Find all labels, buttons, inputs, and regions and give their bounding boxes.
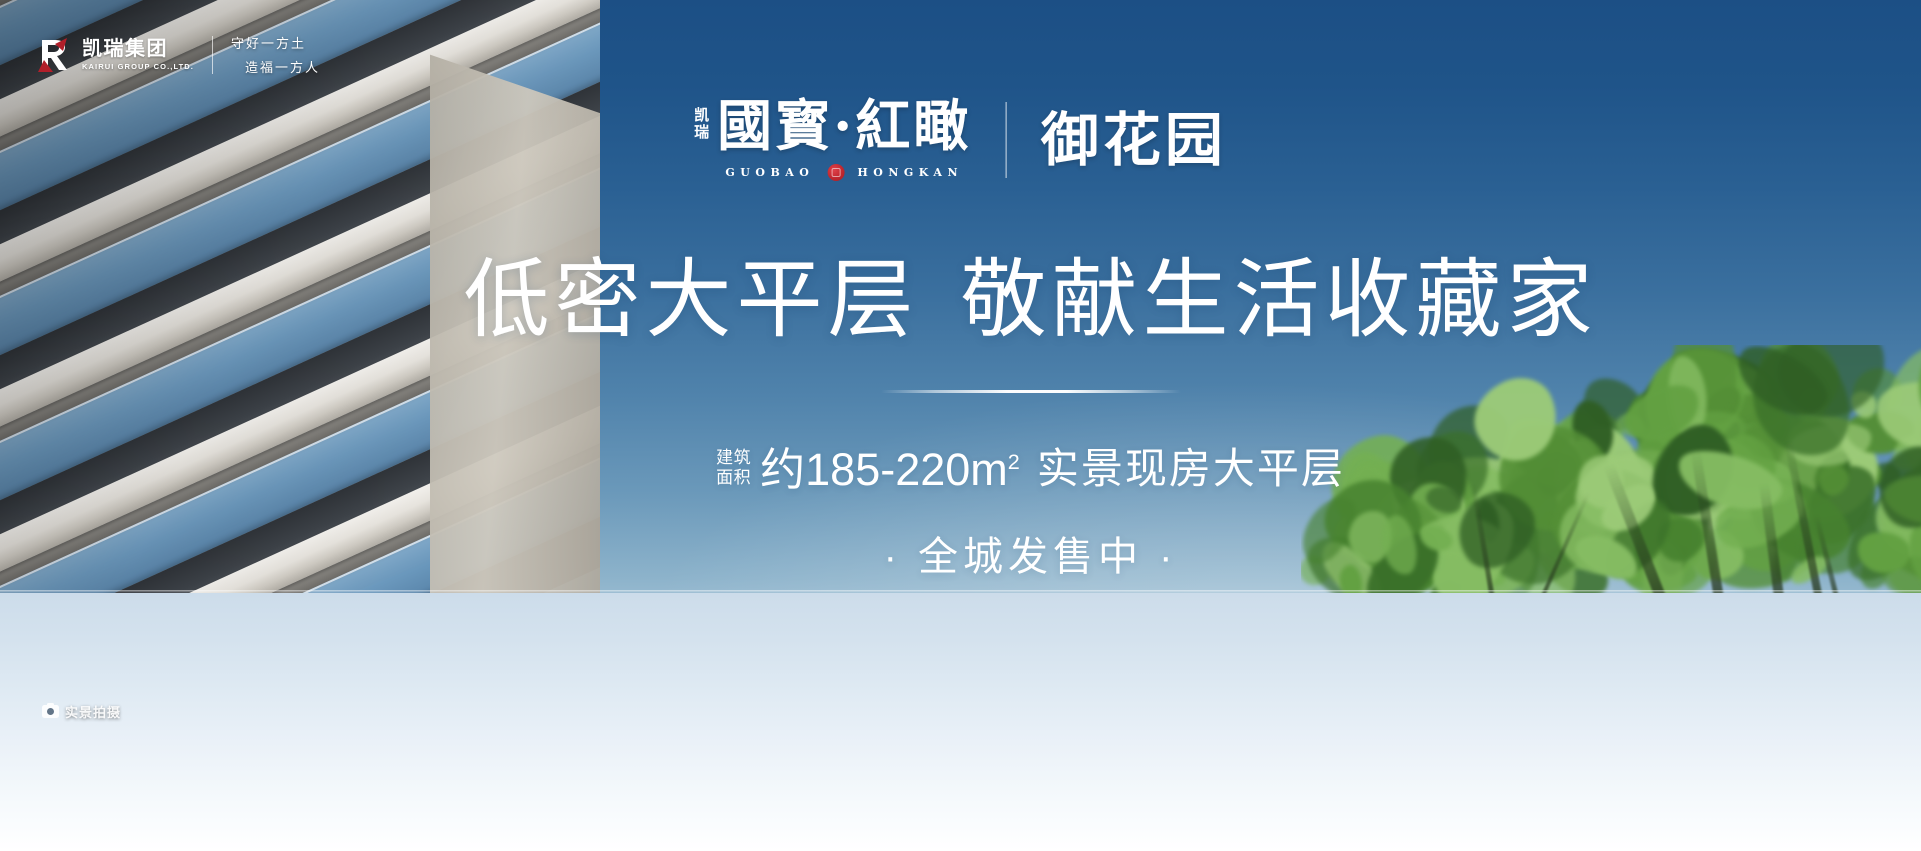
headline-part-1: 低密大平层 (464, 252, 919, 348)
company-name-en: KAIRUI GROUP CO.,LTD. (82, 63, 194, 71)
company-name-cn: 凯瑞集团 (82, 39, 194, 59)
red-seal-stamp-icon (827, 164, 844, 181)
area-label-line-1: 建筑 (716, 448, 751, 468)
project-logo-divider (1005, 102, 1007, 178)
project-pinyin-right: HONGKAN (857, 166, 963, 179)
photo-credit-badge: 实景拍摄 (42, 702, 121, 721)
project-logo-primary: 凯 瑞 國寳·紅瞰 GUOBAO HONGKAN (694, 98, 971, 181)
subline: 建筑 面积 约185-220m2 实景现房大平层 (716, 433, 1345, 498)
sales-tagline: · 全城发售中 · (884, 524, 1178, 582)
camera-icon (42, 705, 59, 718)
area-unit-superscript: 2 (1008, 449, 1020, 474)
headline: 低密大平层敬献生活收藏家 (464, 252, 1598, 348)
photo-credit-text: 实景拍摄 (65, 702, 121, 721)
project-name-cn: 國寳·紅瞰 (717, 98, 971, 153)
area-value-text: 约185-220m (760, 444, 1008, 495)
area-description: 实景现房大平层 (1037, 435, 1345, 496)
area-value: 约185-220m2 (760, 433, 1020, 498)
sub-project-name: 御花园 (1041, 111, 1227, 169)
slogan-line-1: 守好一方土 (231, 33, 320, 52)
company-logo[interactable]: 凯瑞集团 KAIRUI GROUP CO.,LTD. 守好一方土 造福一方人 (38, 33, 320, 76)
headline-part-2: 敬献生活收藏家 (961, 252, 1598, 348)
project-prefix-char-2: 瑞 (694, 125, 709, 142)
company-slogan: 守好一方土 造福一方人 (231, 33, 320, 76)
slogan-line-2: 造福一方人 (231, 57, 320, 76)
company-brand-text: 凯瑞集团 KAIRUI GROUP CO.,LTD. (82, 39, 194, 71)
decorative-divider (881, 390, 1181, 393)
project-prefix-char-1: 凯 (694, 108, 709, 125)
area-label: 建筑 面积 (716, 448, 751, 488)
kairui-r-mark-icon (38, 38, 68, 72)
project-pinyin-left: GUOBAO (725, 166, 814, 179)
real-estate-banner: 凯瑞集团 KAIRUI GROUP CO.,LTD. 守好一方土 造福一方人 凯… (0, 0, 1921, 851)
marketing-copy: 低密大平层敬献生活收藏家 建筑 面积 约185-220m2 实景现房大平层 · … (0, 252, 1921, 582)
bottom-strip (0, 593, 1921, 851)
project-logo[interactable]: 凯 瑞 國寳·紅瞰 GUOBAO HONGKAN 御花园 (694, 98, 1227, 181)
logo-divider (212, 36, 213, 74)
area-label-line-2: 面积 (716, 468, 751, 488)
project-prefix: 凯 瑞 (694, 108, 709, 142)
project-pinyin: GUOBAO HONGKAN (725, 164, 963, 181)
